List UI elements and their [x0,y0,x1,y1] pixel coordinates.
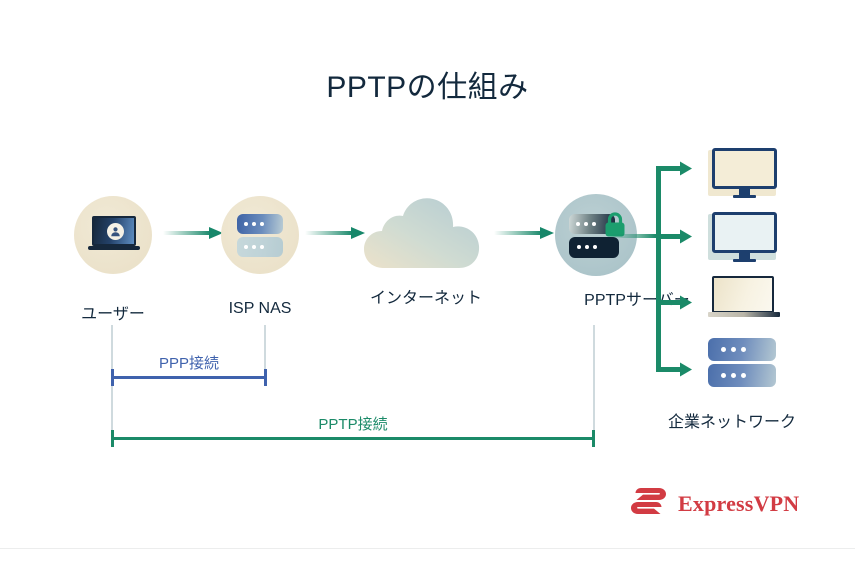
laptop-base [88,246,140,250]
server-unit-bottom [237,237,283,257]
node-pptp-server-label: PPTPサーバー [537,286,737,310]
footer-divider [0,548,855,549]
monitor-screen [712,148,777,189]
server-unit-bottom [708,364,776,387]
corporate-network-trunk-icon [652,160,700,383]
device-monitor-1 [708,148,778,200]
server-unit-top [237,214,283,234]
expressvpn-logo-icon [630,486,667,521]
monitor-foot [733,195,756,198]
arrow-isp-to-internet-icon [305,226,365,240]
bracket-ppp-line [111,376,267,379]
bracket-ppp-label: PPP接続 [111,352,267,373]
brand-logo: ExpressVPN [630,486,799,521]
device-server-1 [708,338,778,388]
arrow-user-to-isp-icon [163,226,223,240]
page-title: PPTPの仕組み [0,62,855,106]
corporate-network-label: 企業ネットワーク [668,408,796,432]
monitor-foot [733,259,756,262]
laptop-user-icon [88,216,140,256]
device-laptop-1 [708,276,780,320]
bracket-pptp-label: PPTP接続 [111,413,595,434]
laptop-base [708,312,780,317]
padlock-icon [603,212,627,244]
node-internet-label: インターネット [326,284,526,308]
arrow-internet-to-pptp-icon [494,226,554,240]
brand-name: ExpressVPN [678,491,799,517]
trunk-feed-line [610,234,656,238]
user-avatar-icon [107,223,124,240]
laptop-screen [712,276,774,313]
server-unit-top [708,338,776,361]
bracket-pptp-line [111,437,595,440]
monitor-screen [712,212,777,253]
laptop-screen [92,216,136,246]
diagram-canvas: PPTPの仕組み ユーザー [0,0,855,561]
cloud-icon [362,196,492,279]
device-monitor-2 [708,212,778,264]
server-icon [237,214,283,258]
